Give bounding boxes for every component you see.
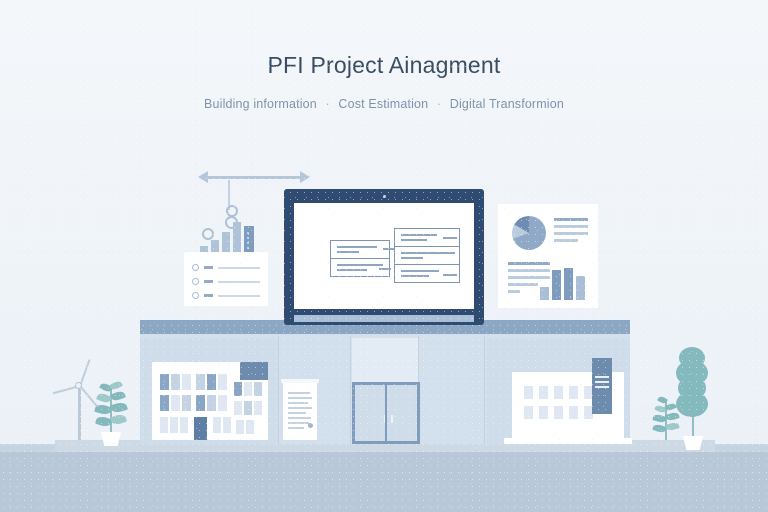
card-bar xyxy=(564,268,573,300)
chart-bar xyxy=(233,222,241,256)
checkbox-circle-icon xyxy=(192,264,199,271)
window xyxy=(254,401,262,415)
checklist-tag xyxy=(204,266,213,269)
pie-chart xyxy=(512,216,546,250)
placard-line xyxy=(288,412,306,414)
row-line xyxy=(401,239,427,241)
panel-row xyxy=(331,259,389,277)
topiary-foliage xyxy=(679,347,705,369)
checklist-tag xyxy=(204,280,213,283)
facade-panel-4 xyxy=(420,338,484,444)
row-line xyxy=(337,251,359,253)
checklist-item xyxy=(192,291,260,301)
facade-mullion-4 xyxy=(484,336,485,444)
placard-line xyxy=(288,402,308,404)
entrance-door xyxy=(194,417,207,440)
window xyxy=(524,406,533,419)
window xyxy=(160,395,169,411)
window xyxy=(196,395,205,411)
placard-line xyxy=(288,427,304,429)
panel-row xyxy=(331,241,389,259)
checkbox-circle-icon xyxy=(192,292,199,299)
facade-mullion-2 xyxy=(350,336,351,444)
window xyxy=(182,395,191,411)
row-line xyxy=(337,246,377,248)
window xyxy=(234,382,242,396)
plant-leaf xyxy=(110,390,126,403)
facade-mullion-1 xyxy=(278,336,279,444)
window xyxy=(218,395,227,411)
row-line xyxy=(379,268,391,270)
checkbox-circle-icon xyxy=(192,278,199,285)
screen-panel-left xyxy=(330,240,390,277)
checklist-item xyxy=(192,277,260,287)
screen-panel-right xyxy=(394,228,460,283)
illustration-scene: PFI Project Ainagment Building informati… xyxy=(0,0,768,512)
window xyxy=(569,406,578,419)
document-placard xyxy=(283,382,317,440)
card-text-line xyxy=(554,232,588,235)
checklist-tag xyxy=(204,294,213,297)
card-bar xyxy=(540,287,549,300)
placard-line xyxy=(288,407,312,409)
window xyxy=(539,406,548,419)
checklist-line xyxy=(218,295,260,297)
row-line xyxy=(401,275,429,277)
window xyxy=(254,382,262,396)
building-left-roof-cap xyxy=(240,362,268,380)
sign-line xyxy=(595,381,609,383)
window xyxy=(524,386,533,399)
subtitle-separator-2: · xyxy=(432,97,446,111)
window xyxy=(213,417,221,433)
window xyxy=(182,374,191,390)
analytics-card xyxy=(498,204,598,308)
window xyxy=(207,395,216,411)
ground-band xyxy=(0,452,768,512)
row-line xyxy=(337,264,383,266)
card-bar xyxy=(552,270,561,300)
bar-dots-icon xyxy=(247,232,249,234)
card-text-line xyxy=(508,276,550,279)
right-building-base xyxy=(504,438,632,444)
placard-line xyxy=(288,392,310,394)
office-building-left xyxy=(152,362,248,440)
window xyxy=(196,374,205,390)
window xyxy=(236,420,244,434)
checklist-line xyxy=(218,281,260,283)
row-line xyxy=(443,237,457,239)
window xyxy=(223,417,231,433)
window xyxy=(244,382,252,396)
placard-line xyxy=(288,397,312,399)
window xyxy=(207,374,216,390)
webcam-icon xyxy=(383,195,386,198)
fern-leaf xyxy=(665,411,680,422)
sign-line xyxy=(595,376,609,378)
plant-leaf xyxy=(110,401,128,414)
panel-row xyxy=(395,229,459,247)
row-line xyxy=(401,257,423,259)
wind-turbine-hub xyxy=(75,382,82,389)
row-line xyxy=(337,269,367,271)
door-handle-right xyxy=(391,415,393,423)
card-text-line xyxy=(554,225,588,228)
checklist-line xyxy=(218,267,260,269)
window xyxy=(160,417,168,433)
window xyxy=(170,417,178,433)
fern-leaf xyxy=(665,421,680,432)
placard-cap xyxy=(281,379,319,383)
window xyxy=(234,401,242,415)
card-text-line xyxy=(508,262,550,265)
window xyxy=(180,417,188,433)
row-line xyxy=(401,270,439,272)
window xyxy=(218,374,227,390)
window xyxy=(171,374,180,390)
window xyxy=(554,386,563,399)
row-line xyxy=(443,274,457,276)
desktop-monitor xyxy=(284,189,484,325)
card-text-line xyxy=(554,239,578,242)
growth-bar-chart xyxy=(200,218,256,256)
page-subtitle: Building information · Cost Estimation ·… xyxy=(0,97,768,111)
wind-turbine-mast xyxy=(78,384,81,440)
glass-entrance-doors xyxy=(352,382,420,444)
subtitle-part-1: Building information xyxy=(204,97,317,111)
placard-seal-dot xyxy=(308,423,313,428)
monitor-stand-bar xyxy=(294,315,474,322)
subtitle-separator-1: · xyxy=(320,97,334,111)
monitor-screen xyxy=(294,203,474,309)
plant-leaf xyxy=(110,413,127,426)
arrow-head-right-icon xyxy=(300,171,310,183)
window xyxy=(554,406,563,419)
window xyxy=(539,386,548,399)
arrow-shaft xyxy=(206,176,302,179)
card-text-line xyxy=(508,283,538,286)
panel-row xyxy=(395,265,459,283)
window xyxy=(246,420,254,434)
placard-line xyxy=(288,422,309,424)
window xyxy=(171,395,180,411)
door-handle-left xyxy=(384,415,386,423)
card-text-line xyxy=(554,218,588,221)
placard-line xyxy=(288,417,311,419)
arrow-head-left-icon xyxy=(198,171,208,183)
double-headed-arrow xyxy=(198,171,310,183)
row-line xyxy=(401,252,455,254)
card-text-line xyxy=(508,290,520,293)
row-line xyxy=(401,234,437,236)
page-title: PFI Project Ainagment xyxy=(0,52,768,79)
checklist-item xyxy=(192,263,260,273)
checklist-card xyxy=(184,252,268,306)
window xyxy=(569,386,578,399)
sign-line xyxy=(595,386,609,388)
card-text-line xyxy=(508,269,550,272)
subtitle-part-2: Cost Estimation xyxy=(338,97,428,111)
subtitle-part-3: Digital Transformion xyxy=(450,97,564,111)
right-building-sign-tower xyxy=(592,358,612,414)
card-bar xyxy=(576,276,585,300)
window xyxy=(160,374,169,390)
window xyxy=(244,401,252,415)
panel-row xyxy=(395,247,459,265)
